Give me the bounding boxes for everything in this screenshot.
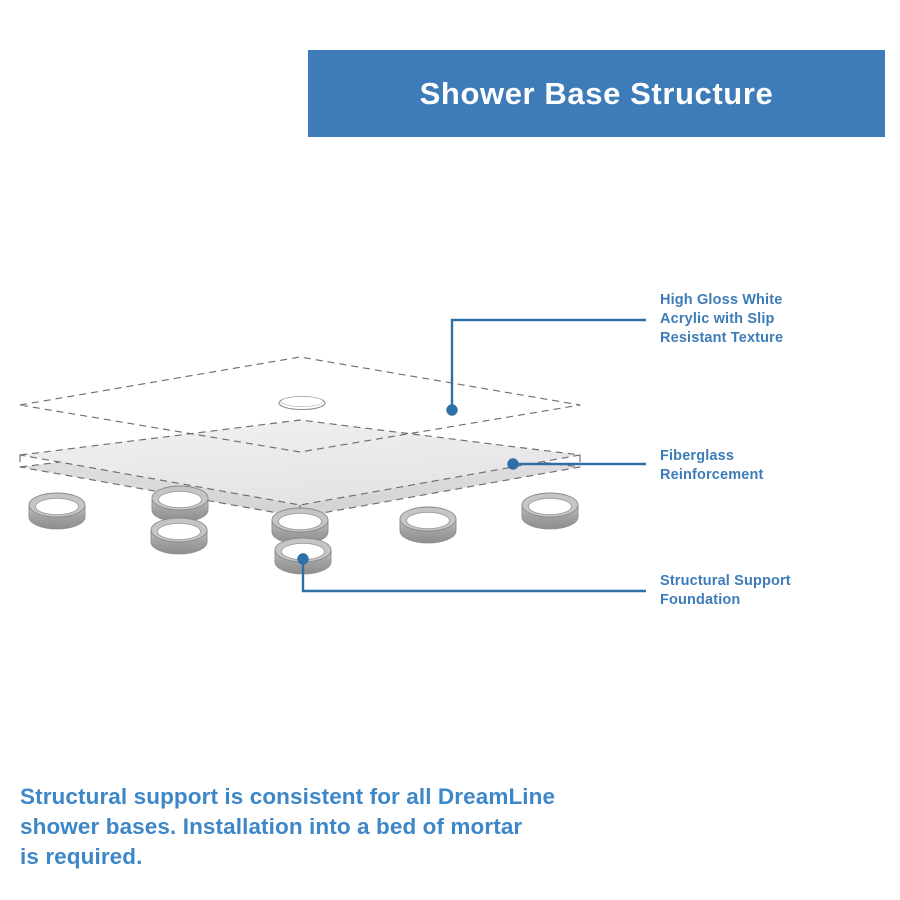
leader-line-support xyxy=(303,559,646,591)
support-ring xyxy=(275,538,331,574)
drain-opening-icon xyxy=(279,397,325,410)
page-title: Shower Base Structure xyxy=(420,76,774,112)
support-ring xyxy=(400,507,456,543)
header-banner: Shower Base Structure xyxy=(308,50,885,137)
leader-line-acrylic xyxy=(452,320,646,410)
structural-support-rings xyxy=(29,486,578,574)
leader-dot-fiberglass xyxy=(508,459,518,469)
support-ring xyxy=(151,518,207,554)
callout-label-acrylic: High Gloss White Acrylic with Slip Resis… xyxy=(660,291,783,348)
callout-leader-lines xyxy=(298,320,646,591)
support-ring xyxy=(272,508,328,544)
callout-label-support: Structural Support Foundation xyxy=(660,572,791,610)
support-ring xyxy=(522,493,578,529)
support-ring xyxy=(152,486,208,522)
acrylic-top-layer xyxy=(20,357,580,452)
leader-dot-support xyxy=(298,554,308,564)
footer-caption: Structural support is consistent for all… xyxy=(20,782,600,872)
leader-dot-acrylic xyxy=(447,405,457,415)
fiberglass-reinforcement-layer xyxy=(20,420,580,517)
support-ring xyxy=(29,493,85,529)
callout-label-fiberglass: Fiberglass Reinforcement xyxy=(660,447,763,485)
